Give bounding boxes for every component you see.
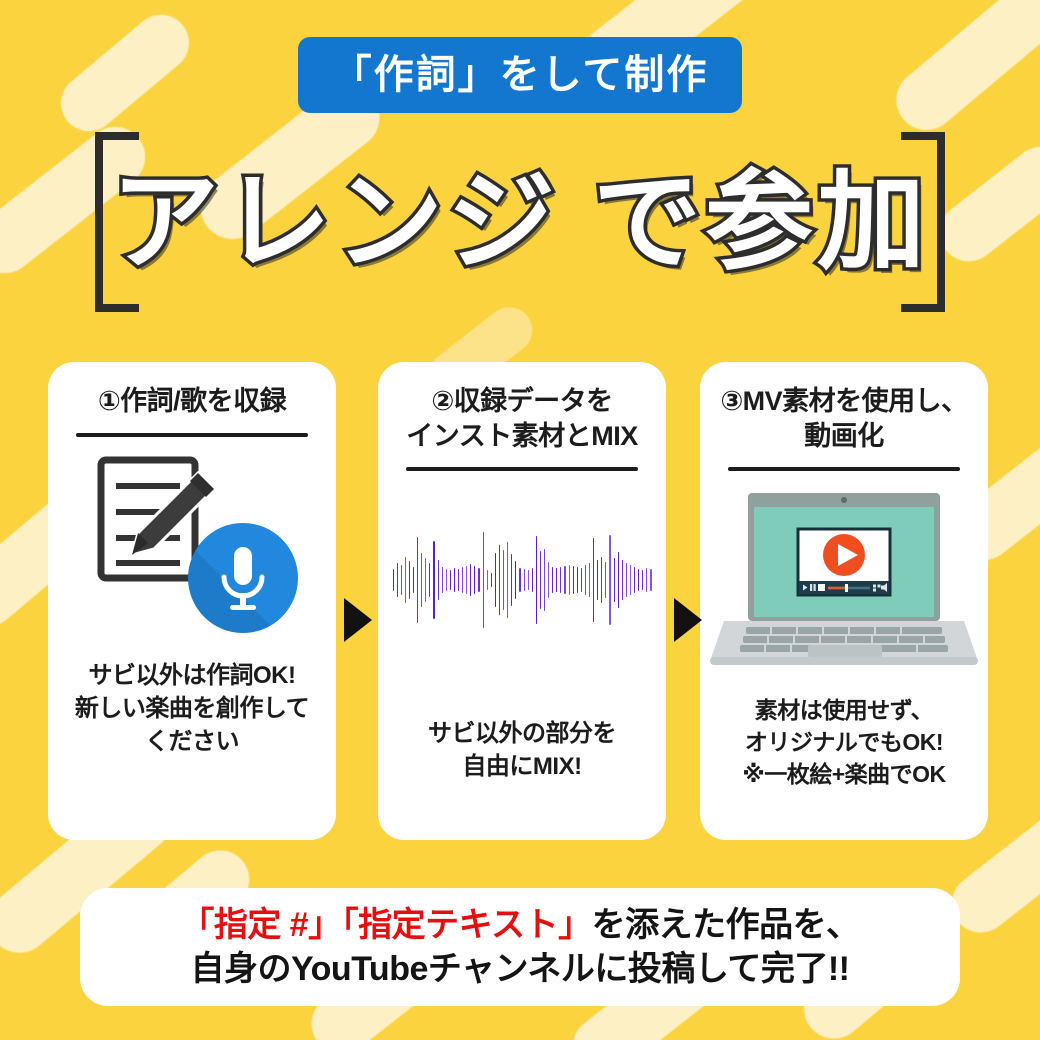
waveform-bar bbox=[462, 567, 463, 593]
waveform-bar bbox=[515, 561, 516, 599]
audio-waveform-icon bbox=[391, 505, 653, 655]
waveform-bar bbox=[605, 562, 606, 598]
waveform-bar bbox=[548, 562, 549, 598]
arrow-step-2-to-3-icon bbox=[674, 598, 702, 642]
microphone-icon bbox=[188, 523, 298, 633]
waveform-bar bbox=[495, 553, 496, 607]
step-card-3-art bbox=[714, 471, 974, 689]
waveform-bar bbox=[417, 537, 418, 623]
footer-highlight-text: 「指定テキスト」 bbox=[342, 906, 592, 944]
waveform-bar bbox=[564, 566, 565, 594]
header-badge: 「作詞」をして制作 bbox=[298, 37, 742, 113]
waveform-bar bbox=[503, 550, 504, 610]
step-card-1: ①作詞/歌を収録 bbox=[48, 362, 336, 840]
waveform-bar bbox=[581, 568, 582, 592]
waveform-bar bbox=[458, 569, 459, 591]
waveform-bar bbox=[524, 569, 525, 591]
waveform-bar bbox=[478, 568, 479, 592]
waveform-bar bbox=[573, 566, 574, 594]
waveform-bar bbox=[618, 552, 619, 608]
waveform-bar bbox=[499, 545, 500, 615]
page-title: アレンジ で参加 bbox=[95, 132, 945, 312]
waveform-bar bbox=[450, 570, 451, 590]
waveform-bar bbox=[536, 536, 537, 624]
step-card-3: ③MV素材を使用し、 動画化 bbox=[700, 362, 988, 840]
waveform-bar bbox=[466, 566, 467, 594]
footer-banner-line-1: 「指定 #」「指定テキスト」を添えた作品を、 bbox=[180, 905, 859, 945]
waveform-bar bbox=[425, 558, 426, 602]
arrow-step-1-to-2-icon bbox=[344, 598, 372, 642]
waveform-bar bbox=[646, 568, 647, 592]
waveform-bar bbox=[511, 554, 512, 606]
waveform-bar bbox=[454, 568, 455, 592]
waveform-bar bbox=[405, 557, 406, 603]
step-card-1-title: ①作詞/歌を収録 bbox=[98, 384, 286, 419]
waveform-bar bbox=[597, 560, 598, 600]
waveform-bar bbox=[634, 567, 635, 593]
waveform-bar bbox=[483, 532, 484, 628]
waveform-bar bbox=[638, 569, 639, 591]
header-badge-label: 「作詞」をして制作 bbox=[332, 55, 709, 95]
footer-highlight-hashtag: 「指定 #」 bbox=[180, 906, 341, 944]
waveform-bar bbox=[552, 567, 553, 593]
waveform-bar bbox=[601, 557, 602, 603]
waveform-bar bbox=[532, 568, 533, 592]
waveform-bar bbox=[438, 560, 439, 600]
waveform-bar bbox=[507, 542, 508, 618]
waveform-bar bbox=[442, 567, 443, 593]
waveform-bar bbox=[474, 566, 475, 594]
waveform-bar bbox=[556, 568, 557, 592]
waveform-bar bbox=[544, 549, 545, 611]
waveform-bar bbox=[589, 563, 590, 597]
step-card-1-art bbox=[62, 437, 322, 655]
page-title-text: アレンジ で参加 bbox=[153, 132, 887, 312]
waveform-bar bbox=[429, 563, 430, 597]
step-card-1-caption: サビ以外は作詞OK! 新しい楽曲を創作して ください bbox=[75, 659, 309, 758]
step-card-2-caption: サビ以外の部分を 自由にMIX! bbox=[428, 717, 616, 783]
footer-line-1-rest: を添えた作品を、 bbox=[592, 906, 860, 944]
waveform-bar bbox=[614, 558, 615, 602]
waveform-bar bbox=[630, 565, 631, 595]
confetti-capsule bbox=[50, 3, 201, 142]
waveform-bar bbox=[569, 565, 570, 595]
waveform-bar bbox=[585, 565, 586, 595]
step-card-2-art bbox=[392, 471, 652, 689]
waveform-bar bbox=[409, 561, 410, 599]
waveform-bar bbox=[413, 567, 414, 593]
waveform-bar bbox=[650, 569, 651, 591]
waveform-bar bbox=[491, 573, 492, 587]
step-card-3-title: ③MV素材を使用し、 動画化 bbox=[720, 384, 967, 453]
step-card-3-caption: 素材は使用せず、 オリジナルでもOK! ※一枚絵+楽曲でOK bbox=[742, 695, 945, 790]
waveform-bar bbox=[642, 570, 643, 590]
waveform-bar bbox=[433, 541, 434, 619]
waveform-bar bbox=[421, 553, 422, 607]
confetti-capsule bbox=[884, 0, 1040, 142]
laptop-video-player-icon bbox=[710, 485, 978, 675]
waveform-bar bbox=[393, 569, 394, 591]
step-card-2-title: ②収録データを インスト素材とMIX bbox=[406, 384, 637, 453]
waveform-bar bbox=[528, 570, 529, 590]
waveform-bar bbox=[593, 538, 594, 622]
waveform-bar bbox=[540, 551, 541, 609]
waveform-bar bbox=[560, 567, 561, 593]
waveform-bar bbox=[577, 567, 578, 593]
waveform-bar bbox=[446, 569, 447, 591]
waveform-bar bbox=[397, 563, 398, 597]
footer-banner: 「指定 #」「指定テキスト」を添えた作品を、 自身のYouTubeチャンネルに投… bbox=[80, 888, 960, 1006]
step-card-2: ②収録データを インスト素材とMIX サビ以外の部分を 自由にMIX! bbox=[378, 362, 666, 840]
infographic-canvas: 「作詞」をして制作 アレンジ で参加 ①作詞/歌を収録 bbox=[0, 0, 1040, 1040]
waveform-bar bbox=[519, 568, 520, 592]
microphone-glyph bbox=[188, 523, 298, 633]
waveform-bar bbox=[401, 565, 402, 595]
waveform-bar bbox=[487, 570, 488, 590]
footer-banner-line-2: 自身のYouTubeチャンネルに投稿して完了!! bbox=[191, 949, 850, 989]
waveform-bar bbox=[626, 563, 627, 597]
waveform-bar bbox=[622, 560, 623, 600]
waveform-bar bbox=[470, 564, 471, 596]
waveform-bar bbox=[609, 535, 610, 625]
